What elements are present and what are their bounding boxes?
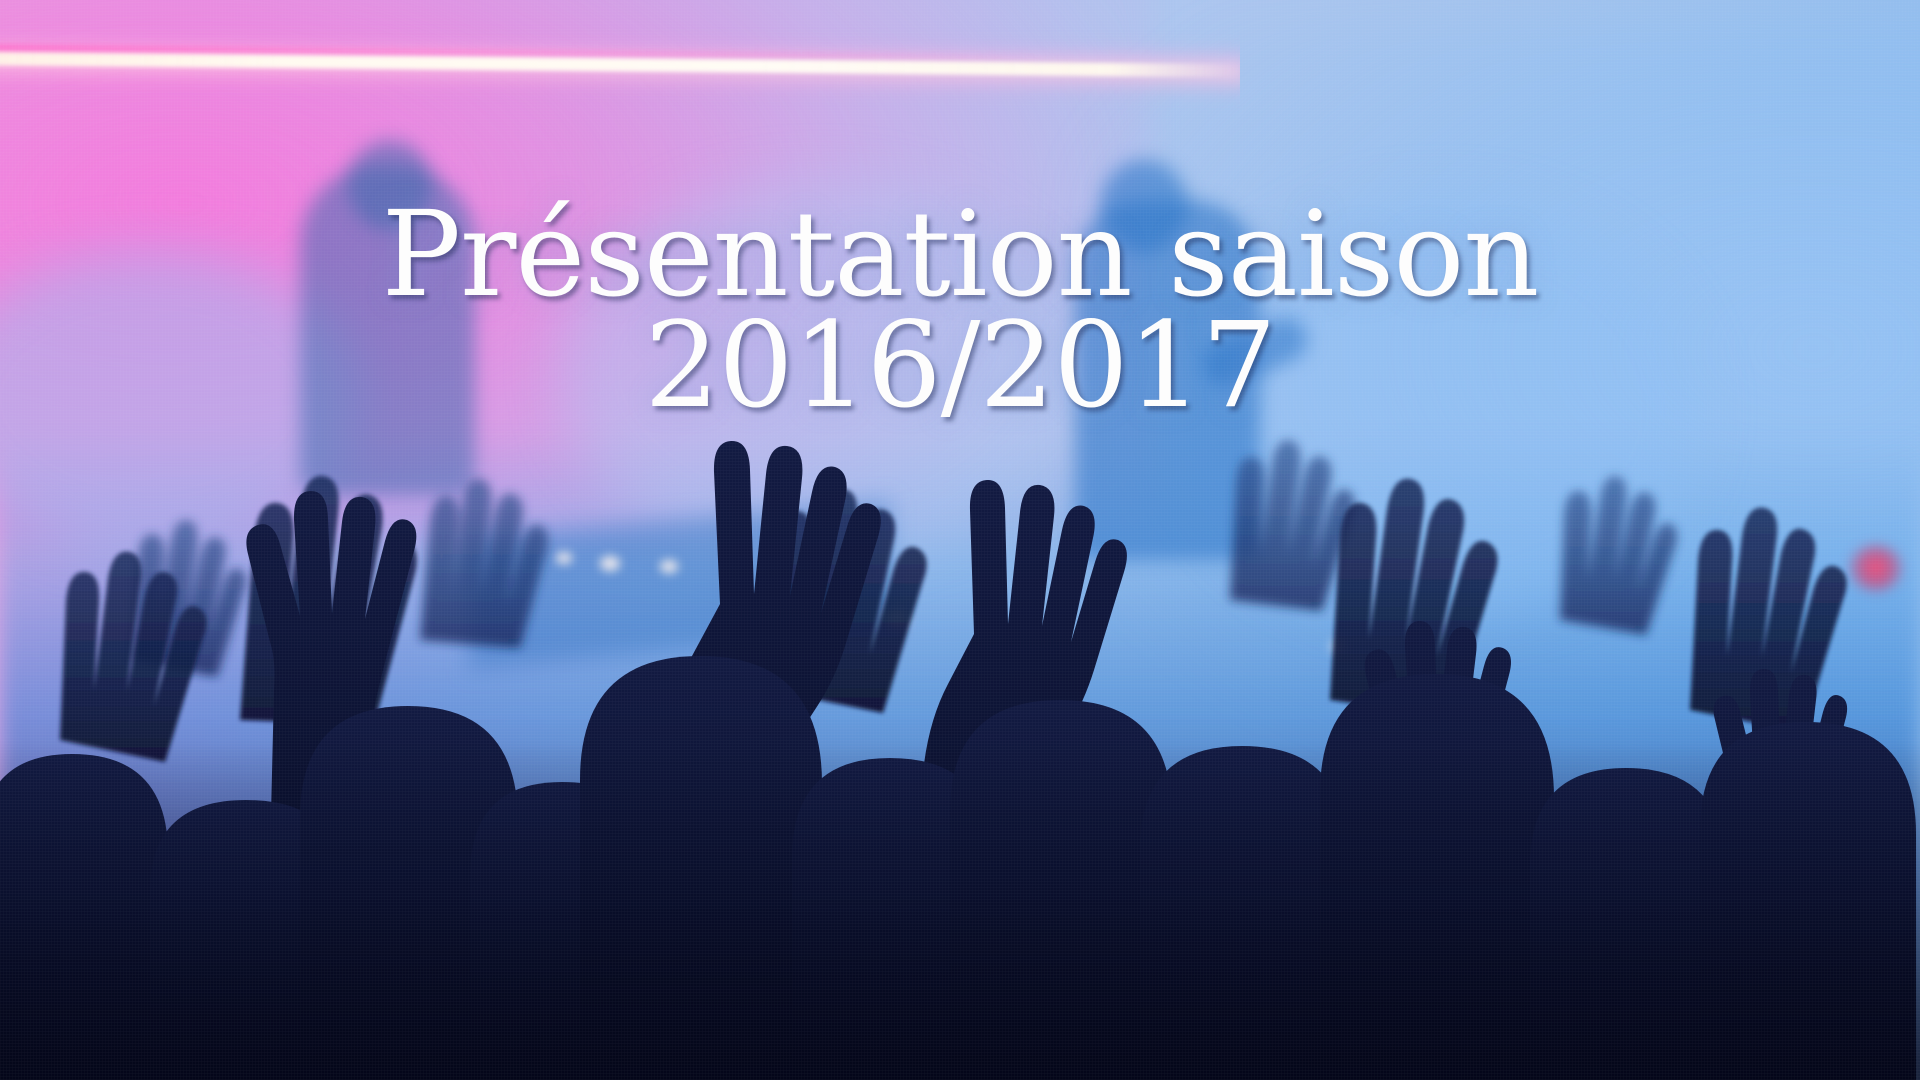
stage-spotlight-1 [556,552,572,564]
performer-head-right [1100,160,1188,252]
stage-spotlight-2 [600,556,620,571]
stage-spotlight-3 [660,560,678,573]
performer-head-left [348,140,432,230]
stage-deck [470,502,890,669]
event-banner: Présentation saison 2016/2017 [0,0,1920,1080]
stage-spotlight-4 [886,610,908,628]
stage-haze [0,0,1920,1080]
red-stage-light [1850,545,1902,591]
stage-spotlight-5 [1330,640,1346,653]
haze-blob-center [560,180,1080,560]
